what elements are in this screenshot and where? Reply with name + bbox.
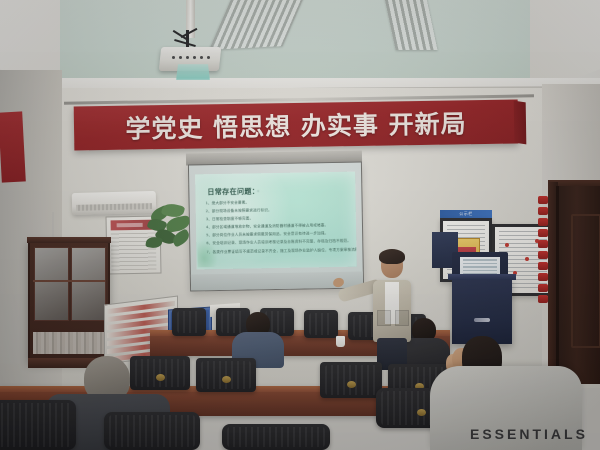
bookcase-glass-door-left[interactable] (34, 247, 69, 321)
projector-lens (176, 64, 210, 80)
slide-bullet: 5、部分岗位作业人员未按要求佩戴劳保用品，安全意识有待进一步加强。 (206, 231, 350, 239)
notice-board-header-text: 公示栏 (440, 210, 492, 218)
slide-title-suffix: 。 (257, 187, 261, 193)
bookcase-shelf (33, 280, 105, 282)
presenter-hair (379, 249, 405, 264)
room-door[interactable] (556, 186, 600, 384)
slide-bullet: 7、各类作业票证填写不规范或记录不齐全，施工及现场作业监护人缺位，专项方案审核流… (206, 247, 350, 255)
wall-banner-left (0, 111, 26, 182)
slogan-banner-text: 学党史 悟思想 办实事 开新局 (74, 100, 519, 151)
chair[interactable] (104, 412, 200, 450)
bookcase (28, 240, 110, 362)
lectern-top-edge (448, 274, 516, 280)
chair[interactable] (320, 362, 382, 398)
slide-bullet: 6、安全培训记录、现场作业人员培训考核记录及台账资料不完整，存档及归档不规范。 (206, 239, 350, 247)
classroom-photo: 学党史 悟思想 办实事 开新局 日常存在问题： 。 1、绝大部分不安全要素。 2… (0, 0, 600, 450)
bookcase-top (27, 237, 111, 243)
notice-board-header: 公示栏 (440, 210, 492, 218)
hoodie-text: ESSENTIALS (470, 426, 588, 442)
projected-slide: 日常存在问题： 。 1、绝大部分不安全要素。 2、部分现场设备未按照要求进行标识… (195, 172, 357, 270)
slide-title: 日常存在问题： (207, 186, 259, 197)
presenter (355, 252, 411, 370)
door-panel (571, 214, 600, 348)
chair[interactable] (196, 358, 256, 392)
slide-bullet-list: 1、绝大部分不安全要素。 2、部分现场设备未按照要求进行标识。 3、日常检查制度… (206, 199, 351, 258)
slide-decoration-leaf (197, 237, 220, 267)
presenter-jacket-pocket (377, 310, 391, 326)
red-hanging-decoration (538, 196, 550, 306)
slogan-banner: 学党史 悟思想 办实事 开新局 (74, 100, 519, 151)
attendee-blue-jacket (228, 312, 286, 364)
presenter-jacket-pocket (395, 310, 409, 326)
chair[interactable] (172, 308, 206, 336)
projector-control-dots (168, 54, 214, 62)
chair[interactable] (304, 310, 338, 338)
bookcase-books (33, 332, 105, 354)
hanging-plant (146, 204, 194, 256)
projection-screen: 日常存在问题： 。 1、绝大部分不安全要素。 2、部分现场设备未按照要求进行标识… (188, 161, 364, 291)
air-conditioner (72, 191, 157, 215)
ceiling-recessed-panel (38, 0, 562, 80)
attendee-essentials-hoodie: ESSENTIALS (430, 366, 582, 450)
slide-bullet: 3、日常检查制度不够完善。 (206, 215, 350, 223)
chair[interactable] (222, 424, 330, 450)
chair[interactable] (0, 400, 76, 450)
slide-bullet: 2、部分现场设备未按照要求进行标识。 (206, 207, 350, 215)
lectern-drawer-handle[interactable] (474, 318, 490, 322)
paper-cup (336, 336, 345, 347)
slide-bullet: 4、部分区域通道堆放杂物，安全通道及消防器材通道不得被占用或堵塞。 (206, 223, 350, 231)
lectern (452, 278, 512, 344)
air-conditioner-vent (76, 203, 152, 211)
bookcase-glass-door-right[interactable] (71, 247, 106, 321)
